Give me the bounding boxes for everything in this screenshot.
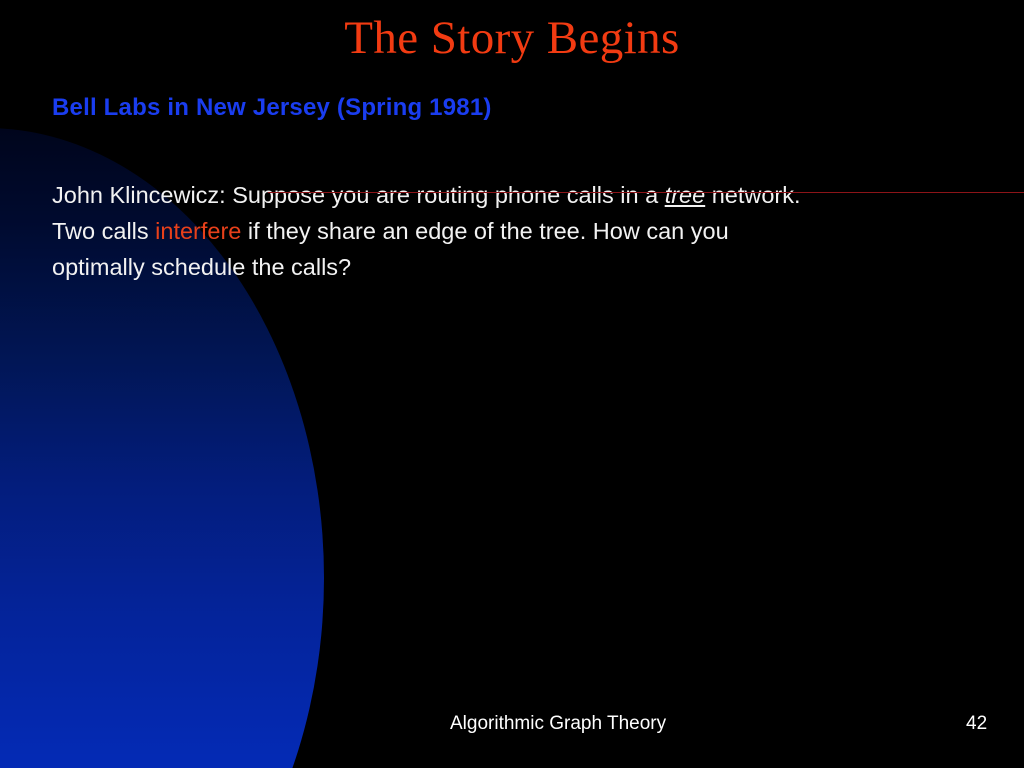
footer-page-number: 42	[966, 713, 987, 735]
body-paragraph: John Klincewicz: Suppose you are routing…	[52, 177, 992, 285]
term-tree: tree	[665, 182, 706, 208]
body-line3: optimally schedule the calls?	[52, 254, 351, 280]
slide-subtitle: Bell Labs in New Jersey (Spring 1981)	[52, 94, 492, 122]
body-line1-prefix: John Klincewicz: Suppose you are routing…	[52, 182, 665, 208]
term-interfere: interfere	[155, 218, 241, 244]
footer-title: Algorithmic Graph Theory	[450, 713, 666, 735]
page-title: The Story Begins	[0, 14, 1024, 63]
presentation-slide: The Story Begins Bell Labs in New Jersey…	[0, 0, 1024, 768]
slide-body: John Klincewicz: Suppose you are routing…	[52, 177, 992, 285]
body-line1-suffix: network.	[705, 182, 800, 208]
body-line2-suffix: if they share an edge of the tree. How c…	[241, 218, 728, 244]
body-line2-prefix: Two calls	[52, 218, 155, 244]
